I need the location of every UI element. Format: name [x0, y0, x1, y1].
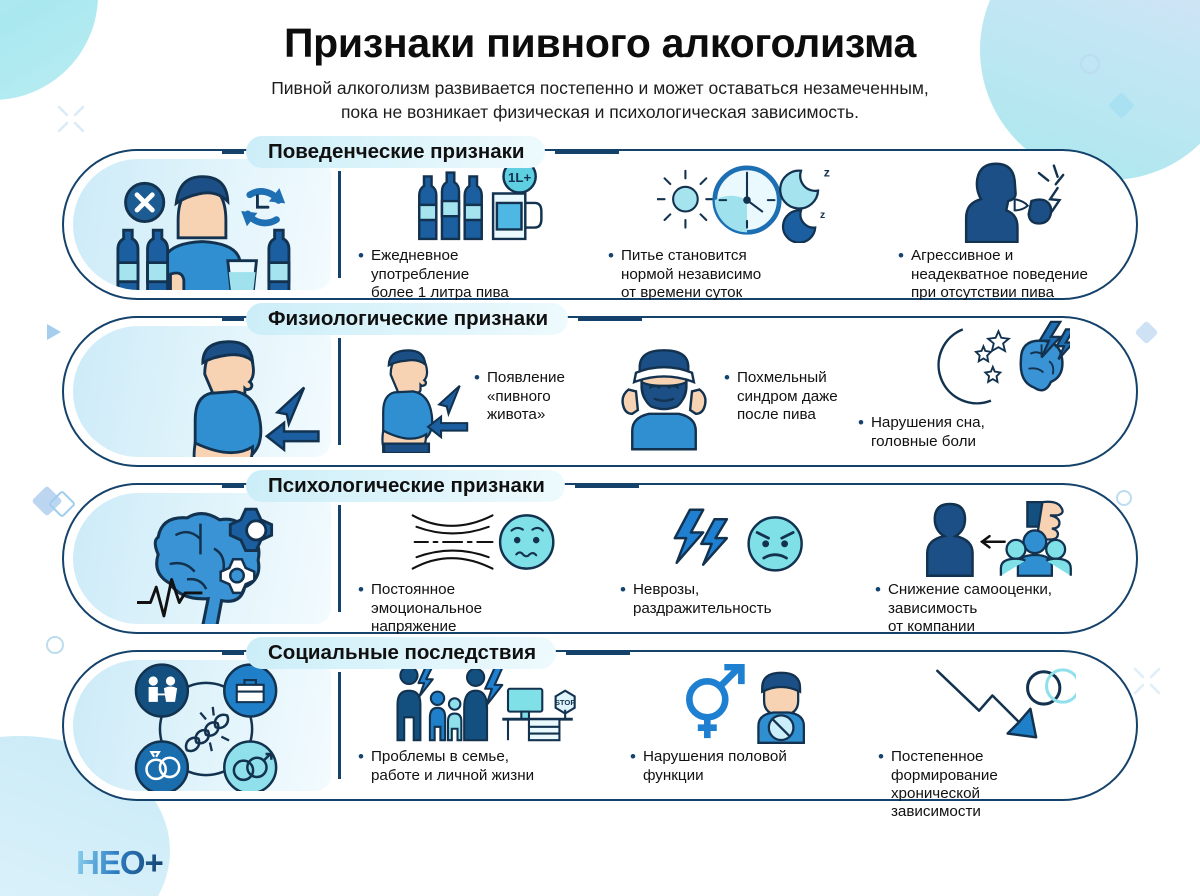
section-social: STOP • Проблемы в семье, работе и личной…: [0, 637, 1200, 801]
bullet-icon: •: [358, 581, 364, 599]
list-item: • Нарушения половой функции: [624, 662, 872, 795]
downward-arrow-rings-icon: [878, 662, 1122, 744]
svg-text:1L+: 1L+: [508, 170, 531, 185]
list-item-text-row: • Нарушения сна, головные боли: [858, 414, 1122, 450]
section-card: • Постоянное эмоциональное напряжение: [62, 483, 1138, 634]
bullet-icon: •: [620, 581, 626, 599]
list-item-text-row: • Появление «пивного живота»: [474, 369, 565, 424]
section-items: • Появление «пивного живота»: [352, 328, 1128, 461]
subtitle-line-1: Пивной алкоголизм развивается постепенно…: [0, 76, 1200, 100]
bullet-icon: •: [898, 247, 904, 265]
section-divider: [338, 672, 341, 779]
list-item-text-row: • Проблемы в семье, работе и личной жизн…: [358, 748, 618, 784]
shouting-man-fist-icon: [898, 161, 1122, 243]
section-behavioral: 1L+ • Ежедневное употребление более 1 ли…: [0, 136, 1200, 300]
moon-stars-brain-icon: [858, 328, 1122, 410]
section-rule-left: [222, 485, 244, 488]
list-item-label: Проблемы в семье, работе и личной жизни: [371, 748, 534, 784]
bullet-icon: •: [630, 748, 636, 766]
list-item-label: Появление «пивного живота»: [487, 369, 565, 424]
bullet-icon: •: [358, 748, 364, 766]
broken-chain-circles-icon: [87, 660, 327, 791]
list-item-label: Постепенное формирование хронической зав…: [891, 748, 998, 821]
list-item-label: Снижение самооценки, зависимость от комп…: [888, 581, 1052, 636]
section-illustration-panel: [73, 660, 331, 791]
list-item-label: Нарушения сна, головные боли: [871, 414, 985, 450]
section-title: Психологические признаки: [246, 470, 565, 502]
brand-logo: НЕО+: [76, 844, 163, 882]
section-illustration-panel: [73, 326, 331, 457]
section-physiological: • Появление «пивного живота»: [0, 303, 1200, 467]
bullet-icon: •: [858, 414, 864, 432]
list-item: • Появление «пивного живота»: [352, 328, 602, 461]
section-psychological: • Постоянное эмоциональное напряжение: [0, 470, 1200, 634]
list-item: • Снижение самооценки, зависимость от ко…: [869, 495, 1128, 628]
beer-bottles-and-mug-1L-icon: 1L+: [358, 161, 596, 243]
list-item: • Неврозы, раздражительность: [614, 495, 869, 628]
tension-worried-face-icon: [358, 495, 608, 577]
bullet-icon: •: [878, 748, 884, 766]
list-item-text-row: • Питье становится нормой независимо от …: [608, 247, 886, 302]
section-header: Психологические признаки: [246, 470, 639, 502]
section-card: STOP • Проблемы в семье, работе и личной…: [62, 650, 1138, 801]
gender-symbol-blocked-man-icon: [630, 662, 866, 744]
section-items: 1L+ • Ежедневное употребление более 1 ли…: [352, 161, 1128, 294]
list-item: • Агрессивное и неадекватное поведение п…: [892, 161, 1128, 294]
section-rule-left: [222, 652, 244, 655]
list-item-label: Ежедневное употребление более 1 литра пи…: [371, 247, 509, 302]
list-item: STOP • Проблемы в семье, работе и личной…: [352, 662, 624, 795]
family-conflict-work-stop-icon: STOP: [358, 662, 618, 744]
section-title: Поведенческие признаки: [246, 136, 545, 168]
section-rule-right: [555, 151, 619, 154]
hangover-headache-icon: [608, 343, 720, 451]
section-card: 1L+ • Ежедневное употребление более 1 ли…: [62, 149, 1138, 300]
list-item-label: Питье становится нормой независимо от вр…: [621, 247, 761, 302]
list-item-label: Похмельный синдром даже после пива: [737, 369, 838, 424]
section-header: Социальные последствия: [246, 637, 630, 669]
section-header: Физиологические признаки: [246, 303, 642, 335]
subtitle-line-2: пока не возникает физическая и психологи…: [0, 100, 1200, 124]
list-item: 1L+ • Ежедневное употребление более 1 ли…: [352, 161, 602, 294]
section-header: Поведенческие признаки: [246, 136, 619, 168]
bullet-icon: •: [724, 369, 730, 387]
list-item-label: Постоянное эмоциональное напряжение: [371, 581, 482, 636]
svg-text:STOP: STOP: [555, 698, 576, 707]
list-item-text-row: • Нарушения половой функции: [630, 748, 866, 784]
list-item: • Постепенное формирование хронической з…: [872, 662, 1128, 795]
section-title: Физиологические признаки: [246, 303, 568, 335]
section-illustration-panel: [73, 159, 331, 290]
list-item-text-row: • Ежедневное употребление более 1 литра …: [358, 247, 596, 302]
list-item-text-row: • Постепенное формирование хронической з…: [878, 748, 1122, 821]
bullet-icon: •: [875, 581, 881, 599]
section-items: STOP • Проблемы в семье, работе и личной…: [352, 662, 1128, 795]
list-item-text-row: • Агрессивное и неадекватное поведение п…: [898, 247, 1122, 302]
man-belly-arrows-icon: [358, 341, 470, 453]
list-item-text-row: • Неврозы, раздражительность: [620, 581, 863, 617]
section-divider: [338, 505, 341, 612]
list-item: • Нарушения сна, головные боли: [852, 328, 1128, 461]
page-title: Признаки пивного алкоголизма: [0, 22, 1200, 65]
svg-text:z: z: [824, 166, 830, 180]
list-item: • Похмельный синдром даже после пива: [602, 328, 852, 461]
lightning-angry-face-icon: [620, 495, 863, 577]
list-item-text-row: • Похмельный синдром даже после пива: [724, 369, 838, 424]
section-rule-right: [575, 485, 639, 488]
sun-clock-moon-icon: z z: [608, 161, 886, 243]
svg-text:z: z: [820, 210, 825, 221]
section-title: Социальные последствия: [246, 637, 556, 669]
list-item-label: Нарушения половой функции: [643, 748, 787, 784]
section-rule-left: [222, 151, 244, 154]
thumbs-down-group-icon: [875, 495, 1122, 577]
section-divider: [338, 171, 341, 278]
section-rule-right: [578, 318, 642, 321]
list-item: • Постоянное эмоциональное напряжение: [352, 495, 614, 628]
bullet-icon: •: [474, 369, 480, 387]
man-with-beer-bottles-icon: [73, 159, 331, 290]
man-with-beer-belly-icon: [113, 326, 331, 457]
page-subtitle: Пивной алкоголизм развивается постепенно…: [0, 76, 1200, 124]
list-item: z z • Питье становится нормой независимо…: [602, 161, 892, 294]
list-item-label: Агрессивное и неадекватное поведение при…: [911, 247, 1088, 302]
brain-with-gears-icon: [87, 493, 331, 624]
section-divider: [338, 338, 341, 445]
bullet-icon: •: [358, 247, 364, 265]
bullet-icon: •: [608, 247, 614, 265]
page-header: Признаки пивного алкоголизма Пивной алко…: [0, 0, 1200, 124]
section-rule-right: [566, 652, 630, 655]
section-illustration-panel: [73, 493, 331, 624]
list-item-text-row: • Снижение самооценки, зависимость от ко…: [875, 581, 1122, 636]
section-items: • Постоянное эмоциональное напряжение: [352, 495, 1128, 628]
section-card: • Появление «пивного живота»: [62, 316, 1138, 467]
list-item-label: Неврозы, раздражительность: [633, 581, 772, 617]
list-item-text-row: • Постоянное эмоциональное напряжение: [358, 581, 608, 636]
section-rule-left: [222, 318, 244, 321]
sections-container: 1L+ • Ежедневное употребление более 1 ли…: [0, 136, 1200, 801]
